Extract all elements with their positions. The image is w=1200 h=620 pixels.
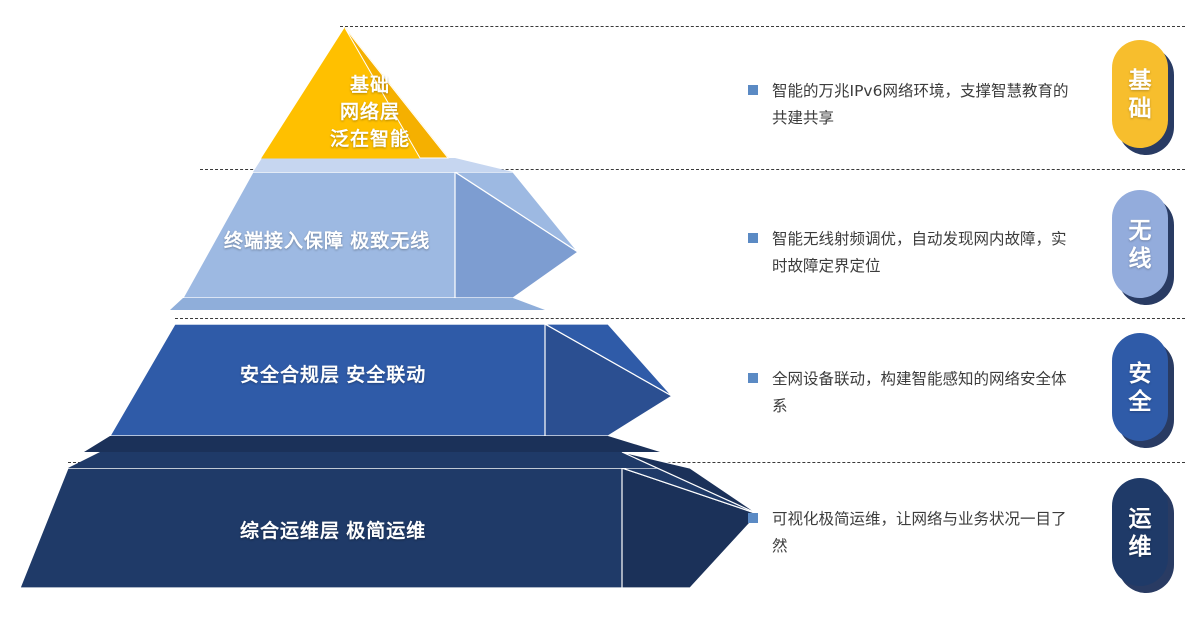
pyramid-layer-foundation[interactable]: [262, 28, 448, 158]
security-base-shadow: [84, 436, 660, 452]
bullet-square-icon: [748, 513, 758, 523]
pyramid-layer-wireless[interactable]: [170, 158, 578, 310]
badge-foundation-char-2: 础: [1129, 94, 1152, 122]
badge-operations-char-2: 维: [1129, 532, 1152, 560]
badge-wireless[interactable]: 无 线: [1112, 190, 1168, 298]
badge-wireless-char-1: 无: [1129, 216, 1152, 244]
description-row-operations: 可视化极简运维，让网络与业务状况一目了然: [748, 506, 1078, 560]
badge-wireless-char-2: 线: [1129, 244, 1152, 272]
bullet-square-icon: [748, 233, 758, 243]
operations-front-face: [20, 468, 690, 588]
badge-security[interactable]: 安 全: [1112, 333, 1168, 441]
badge-operations[interactable]: 运 维: [1112, 478, 1168, 586]
description-text-security: 全网设备联动，构建智能感知的网络安全体系: [772, 366, 1078, 420]
wireless-top-bevel: [253, 158, 513, 172]
description-row-security: 全网设备联动，构建智能感知的网络安全体系: [748, 366, 1078, 420]
security-front-face: [110, 324, 608, 436]
bullet-square-icon: [748, 373, 758, 383]
description-text-wireless: 智能无线射频调优，自动发现网内故障，实时故障定界定位: [772, 226, 1078, 280]
description-text-foundation: 智能的万兆IPv6网络环境，支撑智慧教育的共建共享: [772, 78, 1078, 132]
wireless-base-edge: [170, 298, 545, 310]
description-text-operations: 可视化极简运维，让网络与业务状况一目了然: [772, 506, 1078, 560]
description-row-wireless: 智能无线射频调优，自动发现网内故障，实时故障定界定位: [748, 226, 1078, 280]
operations-top-bevel: [68, 452, 690, 468]
badge-foundation-char-1: 基: [1129, 66, 1152, 94]
pyramid-diagram: 基础 网络层 泛在智能 终端接入保障 极致无线 安全合规层 安全联动 综合运维层…: [0, 0, 1200, 620]
badge-operations-char-1: 运: [1129, 504, 1152, 532]
bullet-square-icon: [748, 85, 758, 95]
pyramid-layer-security[interactable]: [84, 324, 672, 452]
badge-security-char-1: 安: [1129, 359, 1152, 387]
description-row-foundation: 智能的万兆IPv6网络环境，支撑智慧教育的共建共享: [748, 78, 1078, 132]
pyramid-layer-operations[interactable]: [20, 452, 758, 588]
badge-security-char-2: 全: [1129, 387, 1152, 415]
badge-foundation[interactable]: 基 础: [1112, 40, 1168, 148]
